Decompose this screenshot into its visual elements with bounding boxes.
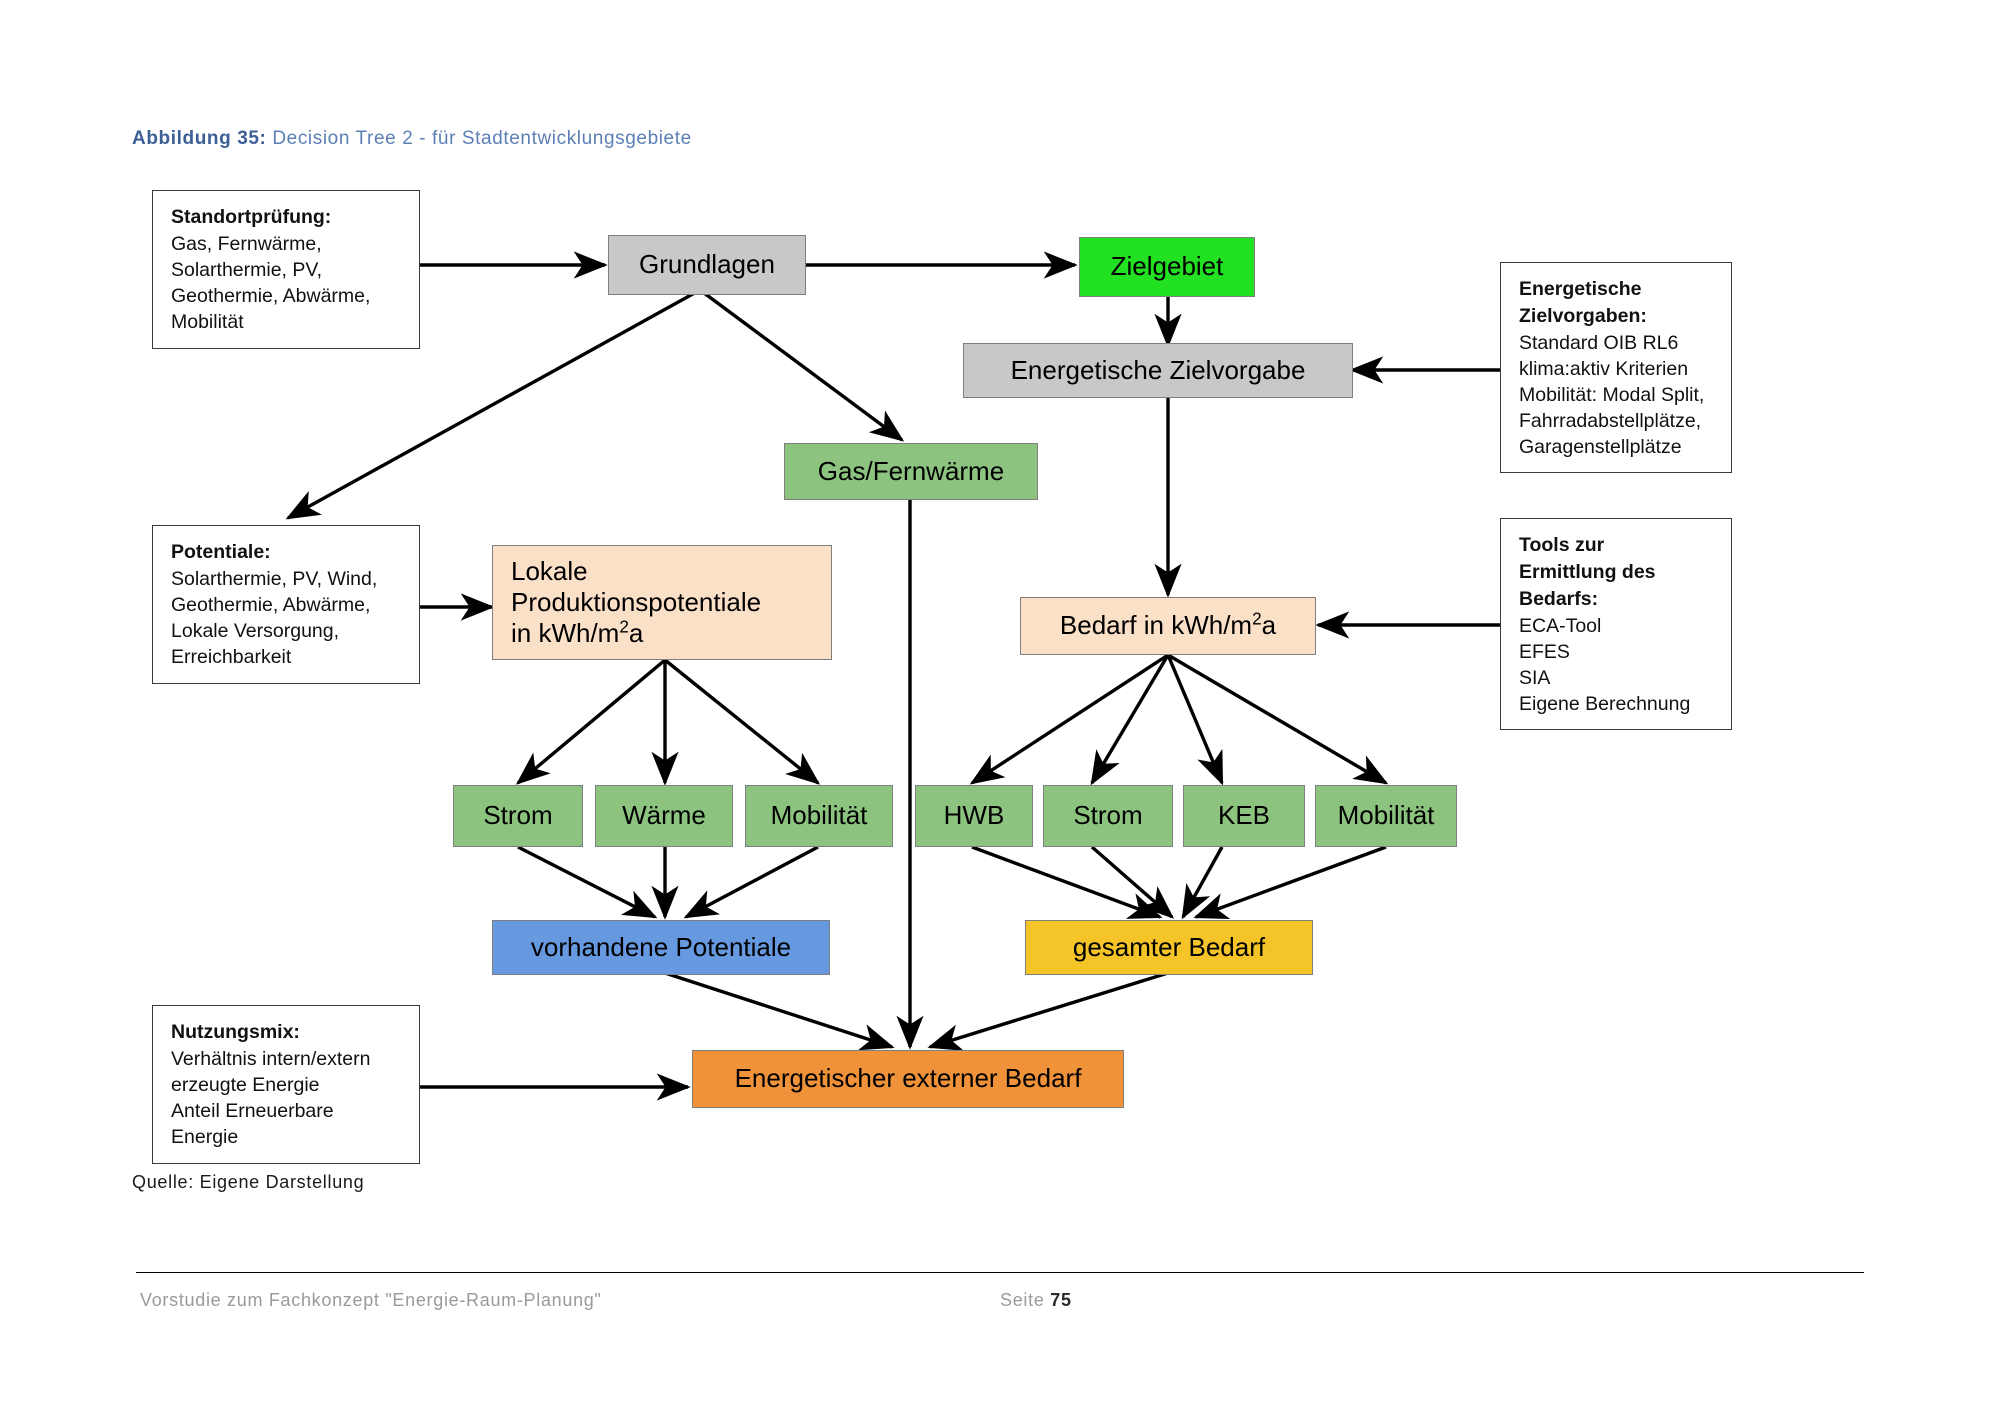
footer-page-label: Seite	[1000, 1290, 1050, 1310]
infobox-tools-line-3: SIA	[1519, 666, 1715, 692]
node-zielgebiet[interactable]: Zielgebiet	[1079, 237, 1255, 297]
infobox-zielvorgaben-title-line-2: Zielvorgaben:	[1519, 304, 1715, 330]
infobox-nutzungsmix-line-2: erzeugte Energie	[171, 1073, 403, 1099]
infobox-standortpruefung-line-2: Solarthermie, PV,	[171, 258, 403, 284]
arrow-bedarf-to-hwb	[972, 655, 1168, 783]
infobox-nutzungsmix-line-3: Anteil Erneuerbare	[171, 1099, 403, 1125]
infobox-standortpruefung-title: Standortprüfung:	[171, 205, 403, 231]
node-waerme-label: Wärme	[622, 800, 706, 831]
infobox-zielvorgaben-line-1: Standard OIB RL6	[1519, 331, 1715, 357]
arrow-mobilitaet2-to-gesamter	[1196, 847, 1386, 917]
infobox-zielvorgaben-line-5: Garagenstellplätze	[1519, 435, 1715, 461]
footer-page-indicator: Seite 75	[1000, 1290, 1072, 1311]
node-gas-fernwaerme-label: Gas/Fernwärme	[818, 456, 1004, 487]
arrow-keb-to-gesamter	[1183, 847, 1222, 917]
infobox-standortpruefung-line-3: Geothermie, Abwärme,	[171, 284, 403, 310]
node-mobilitaet-right-label: Mobilität	[1338, 800, 1435, 831]
node-bedarf-sup: 2	[1252, 609, 1262, 629]
infobox-zielvorgaben-line-3: Mobilität: Modal Split,	[1519, 383, 1715, 409]
footer-document-title: Vorstudie zum Fachkonzept "Energie-Raum-…	[140, 1290, 602, 1311]
arrow-hwb-to-gesamter	[972, 847, 1160, 917]
infobox-nutzungsmix-title: Nutzungsmix:	[171, 1020, 403, 1046]
infobox-tools-line-4: Eigene Berechnung	[1519, 692, 1715, 718]
footer-divider	[136, 1272, 1864, 1273]
arrow-grundlagen-to-gasfernwaerme	[700, 290, 902, 440]
node-mobilitaet-left-label: Mobilität	[771, 800, 868, 831]
infobox-nutzungsmix: Nutzungsmix: Verhältnis intern/extern er…	[152, 1005, 420, 1164]
infobox-potentiale-line-3: Lokale Versorgung,	[171, 619, 403, 645]
infobox-standortpruefung: Standortprüfung: Gas, Fernwärme, Solarth…	[152, 190, 420, 349]
node-energetischer-externer-bedarf[interactable]: Energetischer externer Bedarf	[692, 1050, 1124, 1108]
diagram-page: Abbildung 35: Decision Tree 2 - für Stad…	[0, 0, 2000, 1414]
infobox-zielvorgaben-line-2: klima:aktiv Kriterien	[1519, 357, 1715, 383]
infobox-potentiale-title: Potentiale:	[171, 540, 403, 566]
node-energetische-zielvorgabe-label: Energetische Zielvorgabe	[1011, 355, 1306, 386]
infobox-tools-line-1: ECA-Tool	[1519, 614, 1715, 640]
node-strom-right-label: Strom	[1073, 800, 1142, 831]
node-lokale-line-1: Lokale	[511, 556, 817, 587]
infobox-nutzungsmix-line-4: Energie	[171, 1125, 403, 1151]
node-strom-left-label: Strom	[483, 800, 552, 831]
node-zielgebiet-label: Zielgebiet	[1111, 251, 1224, 282]
node-lokale-unit-post: a	[629, 618, 643, 648]
node-mobilitaet-right[interactable]: Mobilität	[1315, 785, 1457, 847]
arrow-bedarf-to-mobilitaet	[1168, 655, 1386, 783]
node-bedarf-pre: Bedarf in kWh/m	[1060, 610, 1252, 640]
node-bedarf-label: Bedarf in kWh/m2a	[1060, 610, 1276, 641]
caption-label: Abbildung 35:	[132, 128, 266, 149]
infobox-tools-title-line-2: Ermittlung des	[1519, 560, 1715, 586]
caption-title: Decision Tree 2 - für Stadtentwicklungsg…	[266, 128, 691, 149]
infobox-tools-title-line-3: Bedarfs:	[1519, 587, 1715, 613]
arrow-strom2-to-gesamter	[1092, 847, 1172, 917]
arrow-gesamter-to-extern	[930, 973, 1168, 1047]
node-keb-label: KEB	[1218, 800, 1270, 831]
node-bedarf-post: a	[1262, 610, 1276, 640]
node-energetische-zielvorgabe[interactable]: Energetische Zielvorgabe	[963, 343, 1353, 398]
node-grundlagen-label: Grundlagen	[639, 249, 775, 280]
infobox-tools: Tools zur Ermittlung des Bedarfs: ECA-To…	[1500, 518, 1732, 730]
node-keb[interactable]: KEB	[1183, 785, 1305, 847]
node-gesamter-bedarf-label: gesamter Bedarf	[1073, 932, 1265, 963]
footer-page-number: 75	[1050, 1290, 1071, 1310]
arrow-mobilitaet-to-vorhandene	[686, 847, 818, 917]
node-energetischer-externer-bedarf-label: Energetischer externer Bedarf	[735, 1063, 1082, 1094]
infobox-potentiale: Potentiale: Solarthermie, PV, Wind, Geot…	[152, 525, 420, 684]
source-note: Quelle: Eigene Darstellung	[132, 1172, 364, 1193]
node-strom-right[interactable]: Strom	[1043, 785, 1173, 847]
node-lokale-unit-pre: in kWh/m	[511, 618, 619, 648]
infobox-tools-title-line-1: Tools zur	[1519, 533, 1715, 559]
arrow-vorhandene-to-extern	[665, 973, 892, 1047]
arrow-lokale-to-strom	[518, 660, 665, 783]
node-strom-left[interactable]: Strom	[453, 785, 583, 847]
infobox-potentiale-line-1: Solarthermie, PV, Wind,	[171, 567, 403, 593]
node-lokale-line-3: in kWh/m2a	[511, 618, 817, 649]
infobox-zielvorgaben: Energetische Zielvorgaben: Standard OIB …	[1500, 262, 1732, 473]
infobox-nutzungsmix-line-1: Verhältnis intern/extern	[171, 1047, 403, 1073]
infobox-potentiale-line-4: Erreichbarkeit	[171, 645, 403, 671]
node-grundlagen[interactable]: Grundlagen	[608, 235, 806, 295]
infobox-standortpruefung-line-1: Gas, Fernwärme,	[171, 232, 403, 258]
node-bedarf[interactable]: Bedarf in kWh/m2a	[1020, 597, 1316, 655]
infobox-zielvorgaben-line-4: Fahrradabstellplätze,	[1519, 409, 1715, 435]
arrow-strom-to-vorhandene	[518, 847, 655, 917]
node-gesamter-bedarf[interactable]: gesamter Bedarf	[1025, 920, 1313, 975]
node-gas-fernwaerme[interactable]: Gas/Fernwärme	[784, 443, 1038, 500]
node-waerme[interactable]: Wärme	[595, 785, 733, 847]
infobox-tools-line-2: EFES	[1519, 640, 1715, 666]
arrow-bedarf-to-keb	[1168, 655, 1222, 783]
figure-caption: Abbildung 35: Decision Tree 2 - für Stad…	[132, 128, 692, 150]
arrow-lokale-to-mobilitaet	[665, 660, 818, 783]
node-hwb-label: HWB	[944, 800, 1005, 831]
node-mobilitaet-left[interactable]: Mobilität	[745, 785, 893, 847]
node-lokale-unit-sup: 2	[619, 617, 629, 637]
node-hwb[interactable]: HWB	[915, 785, 1033, 847]
node-vorhandene-potentiale[interactable]: vorhandene Potentiale	[492, 920, 830, 975]
infobox-zielvorgaben-title-line-1: Energetische	[1519, 277, 1715, 303]
node-lokale-produktionspotentiale[interactable]: Lokale Produktionspotentiale in kWh/m2a	[492, 545, 832, 660]
infobox-standortpruefung-line-4: Mobilität	[171, 310, 403, 336]
node-lokale-line-2: Produktionspotentiale	[511, 587, 817, 618]
arrow-bedarf-to-strom	[1092, 655, 1168, 783]
infobox-potentiale-line-2: Geothermie, Abwärme,	[171, 593, 403, 619]
node-vorhandene-potentiale-label: vorhandene Potentiale	[531, 932, 791, 963]
